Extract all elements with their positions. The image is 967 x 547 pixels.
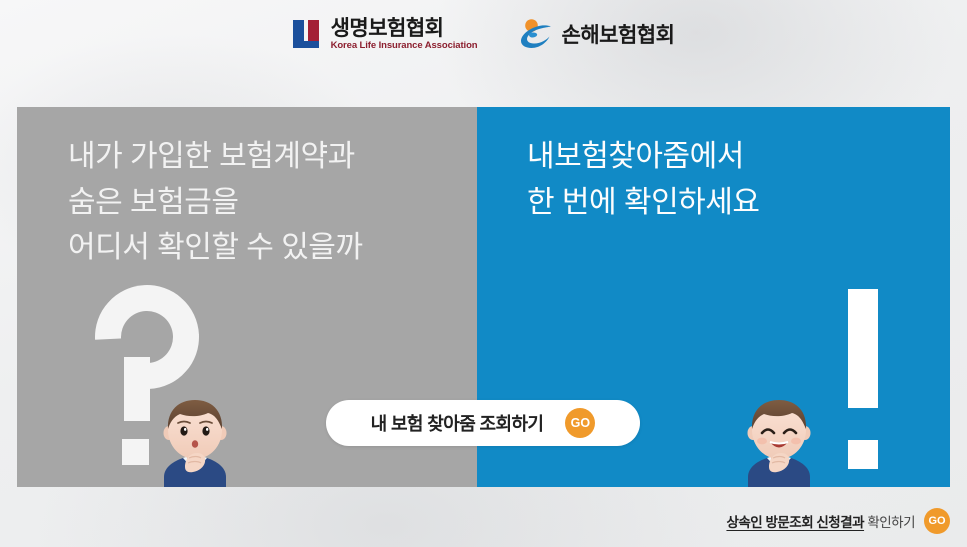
klia-english-name: Korea Life Insurance Association — [331, 41, 478, 51]
footer-go-badge-icon: GO — [924, 508, 950, 534]
panel-question-headline: 내가 가입한 보험계약과 숨은 보험금을 어디서 확인할 수 있을까 — [68, 134, 363, 271]
exclamation-mark-icon — [848, 289, 878, 469]
smiling-character-mascot — [740, 395, 818, 487]
klia-logo-text: 생명보험협회 Korea Life Insurance Association — [331, 18, 478, 51]
header-logo-bar: 생명보험협회 Korea Life Insurance Association … — [0, 0, 967, 68]
footer-link-text: 상속인 방문조회 신청결과 확인하기 — [726, 511, 915, 531]
heir-visit-inquiry-link[interactable]: 상속인 방문조회 신청결과 확인하기 GO — [726, 508, 950, 534]
cta-label: 내 보험 찾아줌 조회하기 — [371, 410, 544, 436]
cta-go-badge-icon: GO — [565, 408, 595, 438]
panel-answer-headline: 내보험찾아줌에서 한 번에 확인하세요 — [527, 134, 759, 225]
logo-general-insurance-association[interactable]: 손해보험협회 — [518, 19, 675, 49]
klia-korean-name: 생명보험협회 — [331, 18, 478, 39]
logo-korea-life-insurance-association[interactable]: 생명보험협회 Korea Life Insurance Association — [293, 18, 478, 51]
footer-link-strong: 상속인 방문조회 신청결과 — [726, 515, 864, 530]
footer-link-normal: 확인하기 — [864, 515, 915, 530]
thinking-character-mascot — [156, 395, 234, 487]
page-root: 생명보험협회 Korea Life Insurance Association … — [0, 0, 967, 547]
gia-korean-name: 손해보험협회 — [562, 19, 675, 49]
insurance-lookup-cta-button[interactable]: 내 보험 찾아줌 조회하기 GO — [326, 400, 640, 446]
klia-logo-mark-icon — [293, 20, 323, 48]
gia-logo-mark-icon — [518, 19, 554, 49]
